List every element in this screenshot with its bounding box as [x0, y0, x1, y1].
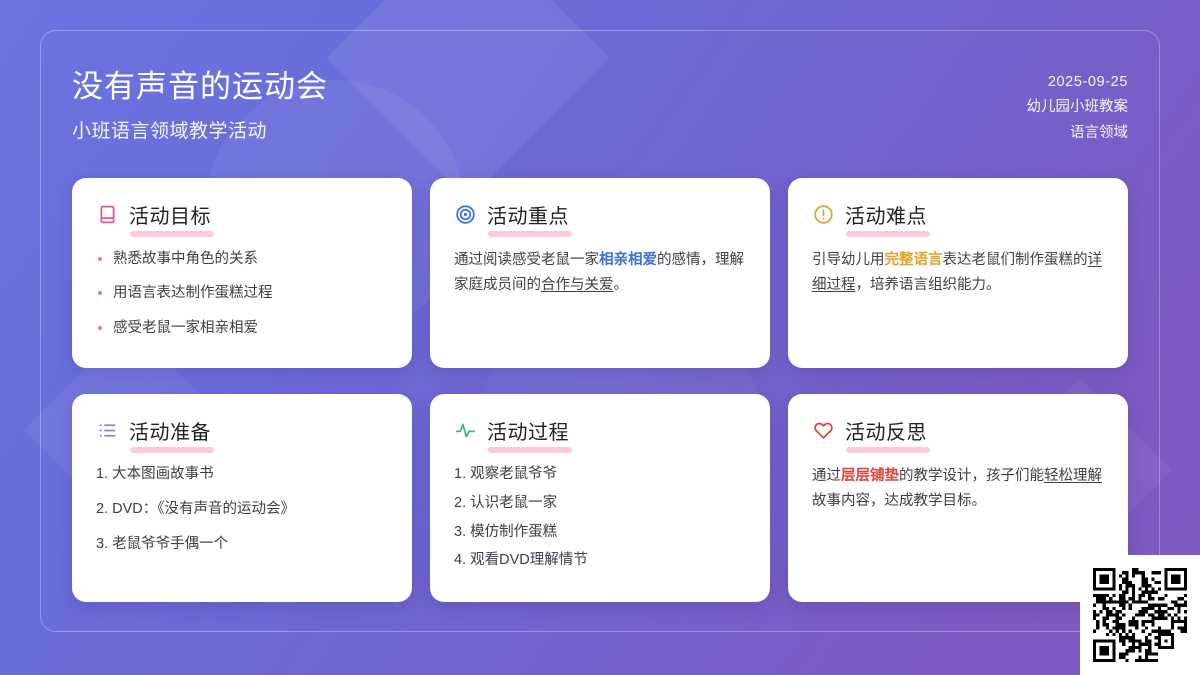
list-item: 大本图画故事书 [96, 464, 388, 486]
meta-domain: 语言领域 [1027, 121, 1129, 146]
card-focus[interactable]: 活动重点 通过阅读感受老鼠一家相亲相爱的感情，理解家庭成员间的合作与关爱。 [430, 178, 770, 368]
list-item: 观察老鼠爷爷 [454, 464, 746, 486]
card-grid: 活动目标 熟悉故事中角色的关系 用语言表达制作蛋糕过程 感受老鼠一家相亲相爱 活… [72, 178, 1128, 602]
para-underline: 合作与关爱 [541, 277, 614, 293]
heart-icon [812, 420, 834, 442]
card-difficulty-body: 引导幼儿用完整语言表达老鼠们制作蛋糕的详细过程，培养语言组织能力。 [812, 248, 1104, 298]
activity-pulse-icon [454, 420, 476, 442]
list-item: 模仿制作蛋糕 [454, 522, 746, 544]
card-process-list: 观察老鼠爷爷 认识老鼠一家 模仿制作蛋糕 观看DVD理解情节 [454, 464, 746, 572]
para-part-3: ，培养语言组织能力。 [856, 277, 1001, 293]
card-prepare-list: 大本图画故事书 DVD：《没有声音的运动会》 老鼠爷爷手偶一个 [96, 464, 388, 555]
card-difficulty-header: 活动难点 [812, 200, 927, 238]
card-prepare-header: 活动准备 [96, 416, 211, 454]
card-reflect-header: 活动反思 [812, 416, 927, 454]
para-part-2: 表达老鼠们制作蛋糕的 [943, 252, 1088, 268]
list-item: 老鼠爷爷手偶一个 [96, 534, 388, 556]
list-item: 观看DVD理解情节 [454, 550, 746, 572]
para-part-1: 通过阅读感受老鼠一家 [454, 252, 599, 268]
target-icon [454, 204, 476, 226]
meta-category: 幼儿园小班教案 [1027, 95, 1129, 120]
para-part-3: 。 [614, 277, 629, 293]
card-focus-body: 通过阅读感受老鼠一家相亲相爱的感情，理解家庭成员间的合作与关爱。 [454, 248, 746, 298]
card-goal-list: 熟悉故事中角色的关系 用语言表达制作蛋糕过程 感受老鼠一家相亲相爱 [96, 248, 388, 339]
card-difficulty-title: 活动难点 [845, 200, 927, 229]
card-prepare-title: 活动准备 [129, 416, 211, 445]
card-goal[interactable]: 活动目标 熟悉故事中角色的关系 用语言表达制作蛋糕过程 感受老鼠一家相亲相爱 [72, 178, 412, 368]
para-part-1: 通过 [812, 468, 841, 484]
header-title-block: 没有声音的运动会 小班语言领域教学活动 [72, 68, 328, 143]
alert-circle-icon [812, 204, 834, 226]
list-item: 熟悉故事中角色的关系 [96, 248, 388, 270]
card-goal-title: 活动目标 [129, 200, 211, 229]
qr-code[interactable] [1080, 555, 1200, 675]
para-highlight: 层层铺垫 [841, 468, 899, 484]
card-focus-title: 活动重点 [487, 200, 569, 229]
card-focus-header: 活动重点 [454, 200, 569, 238]
card-reflect-title: 活动反思 [845, 416, 927, 445]
page-subtitle: 小班语言领域教学活动 [72, 116, 328, 143]
list-icon [96, 420, 118, 442]
card-process[interactable]: 活动过程 观察老鼠爷爷 认识老鼠一家 模仿制作蛋糕 观看DVD理解情节 [430, 394, 770, 602]
book-icon [96, 204, 118, 226]
meta-date: 2025-09-25 [1027, 70, 1129, 95]
para-underline: 轻松理解 [1044, 468, 1102, 484]
list-item: 感受老鼠一家相亲相爱 [96, 317, 388, 339]
card-process-title: 活动过程 [487, 416, 569, 445]
card-process-header: 活动过程 [454, 416, 569, 454]
header-meta-block: 2025-09-25 幼儿园小班教案 语言领域 [1027, 70, 1129, 146]
page-title: 没有声音的运动会 [72, 68, 328, 107]
para-part-2: 的教学设计，孩子们能 [899, 468, 1044, 484]
card-goal-header: 活动目标 [96, 200, 211, 238]
list-item: 认识老鼠一家 [454, 493, 746, 515]
slide-header: 没有声音的运动会 小班语言领域教学活动 2025-09-25 幼儿园小班教案 语… [0, 0, 1200, 170]
qr-code-image [1093, 568, 1187, 662]
para-part-1: 引导幼儿用 [812, 252, 885, 268]
para-part-3: 故事内容，达成教学目标。 [812, 493, 986, 509]
card-reflect[interactable]: 活动反思 通过层层铺垫的教学设计，孩子们能轻松理解故事内容，达成教学目标。 [788, 394, 1128, 602]
para-highlight: 完整语言 [885, 252, 943, 268]
card-reflect-body: 通过层层铺垫的教学设计，孩子们能轻松理解故事内容，达成教学目标。 [812, 464, 1104, 514]
list-item: DVD：《没有声音的运动会》 [96, 499, 388, 521]
para-highlight: 相亲相爱 [599, 252, 657, 268]
list-item: 用语言表达制作蛋糕过程 [96, 282, 388, 304]
card-difficulty[interactable]: 活动难点 引导幼儿用完整语言表达老鼠们制作蛋糕的详细过程，培养语言组织能力。 [788, 178, 1128, 368]
card-prepare[interactable]: 活动准备 大本图画故事书 DVD：《没有声音的运动会》 老鼠爷爷手偶一个 [72, 394, 412, 602]
